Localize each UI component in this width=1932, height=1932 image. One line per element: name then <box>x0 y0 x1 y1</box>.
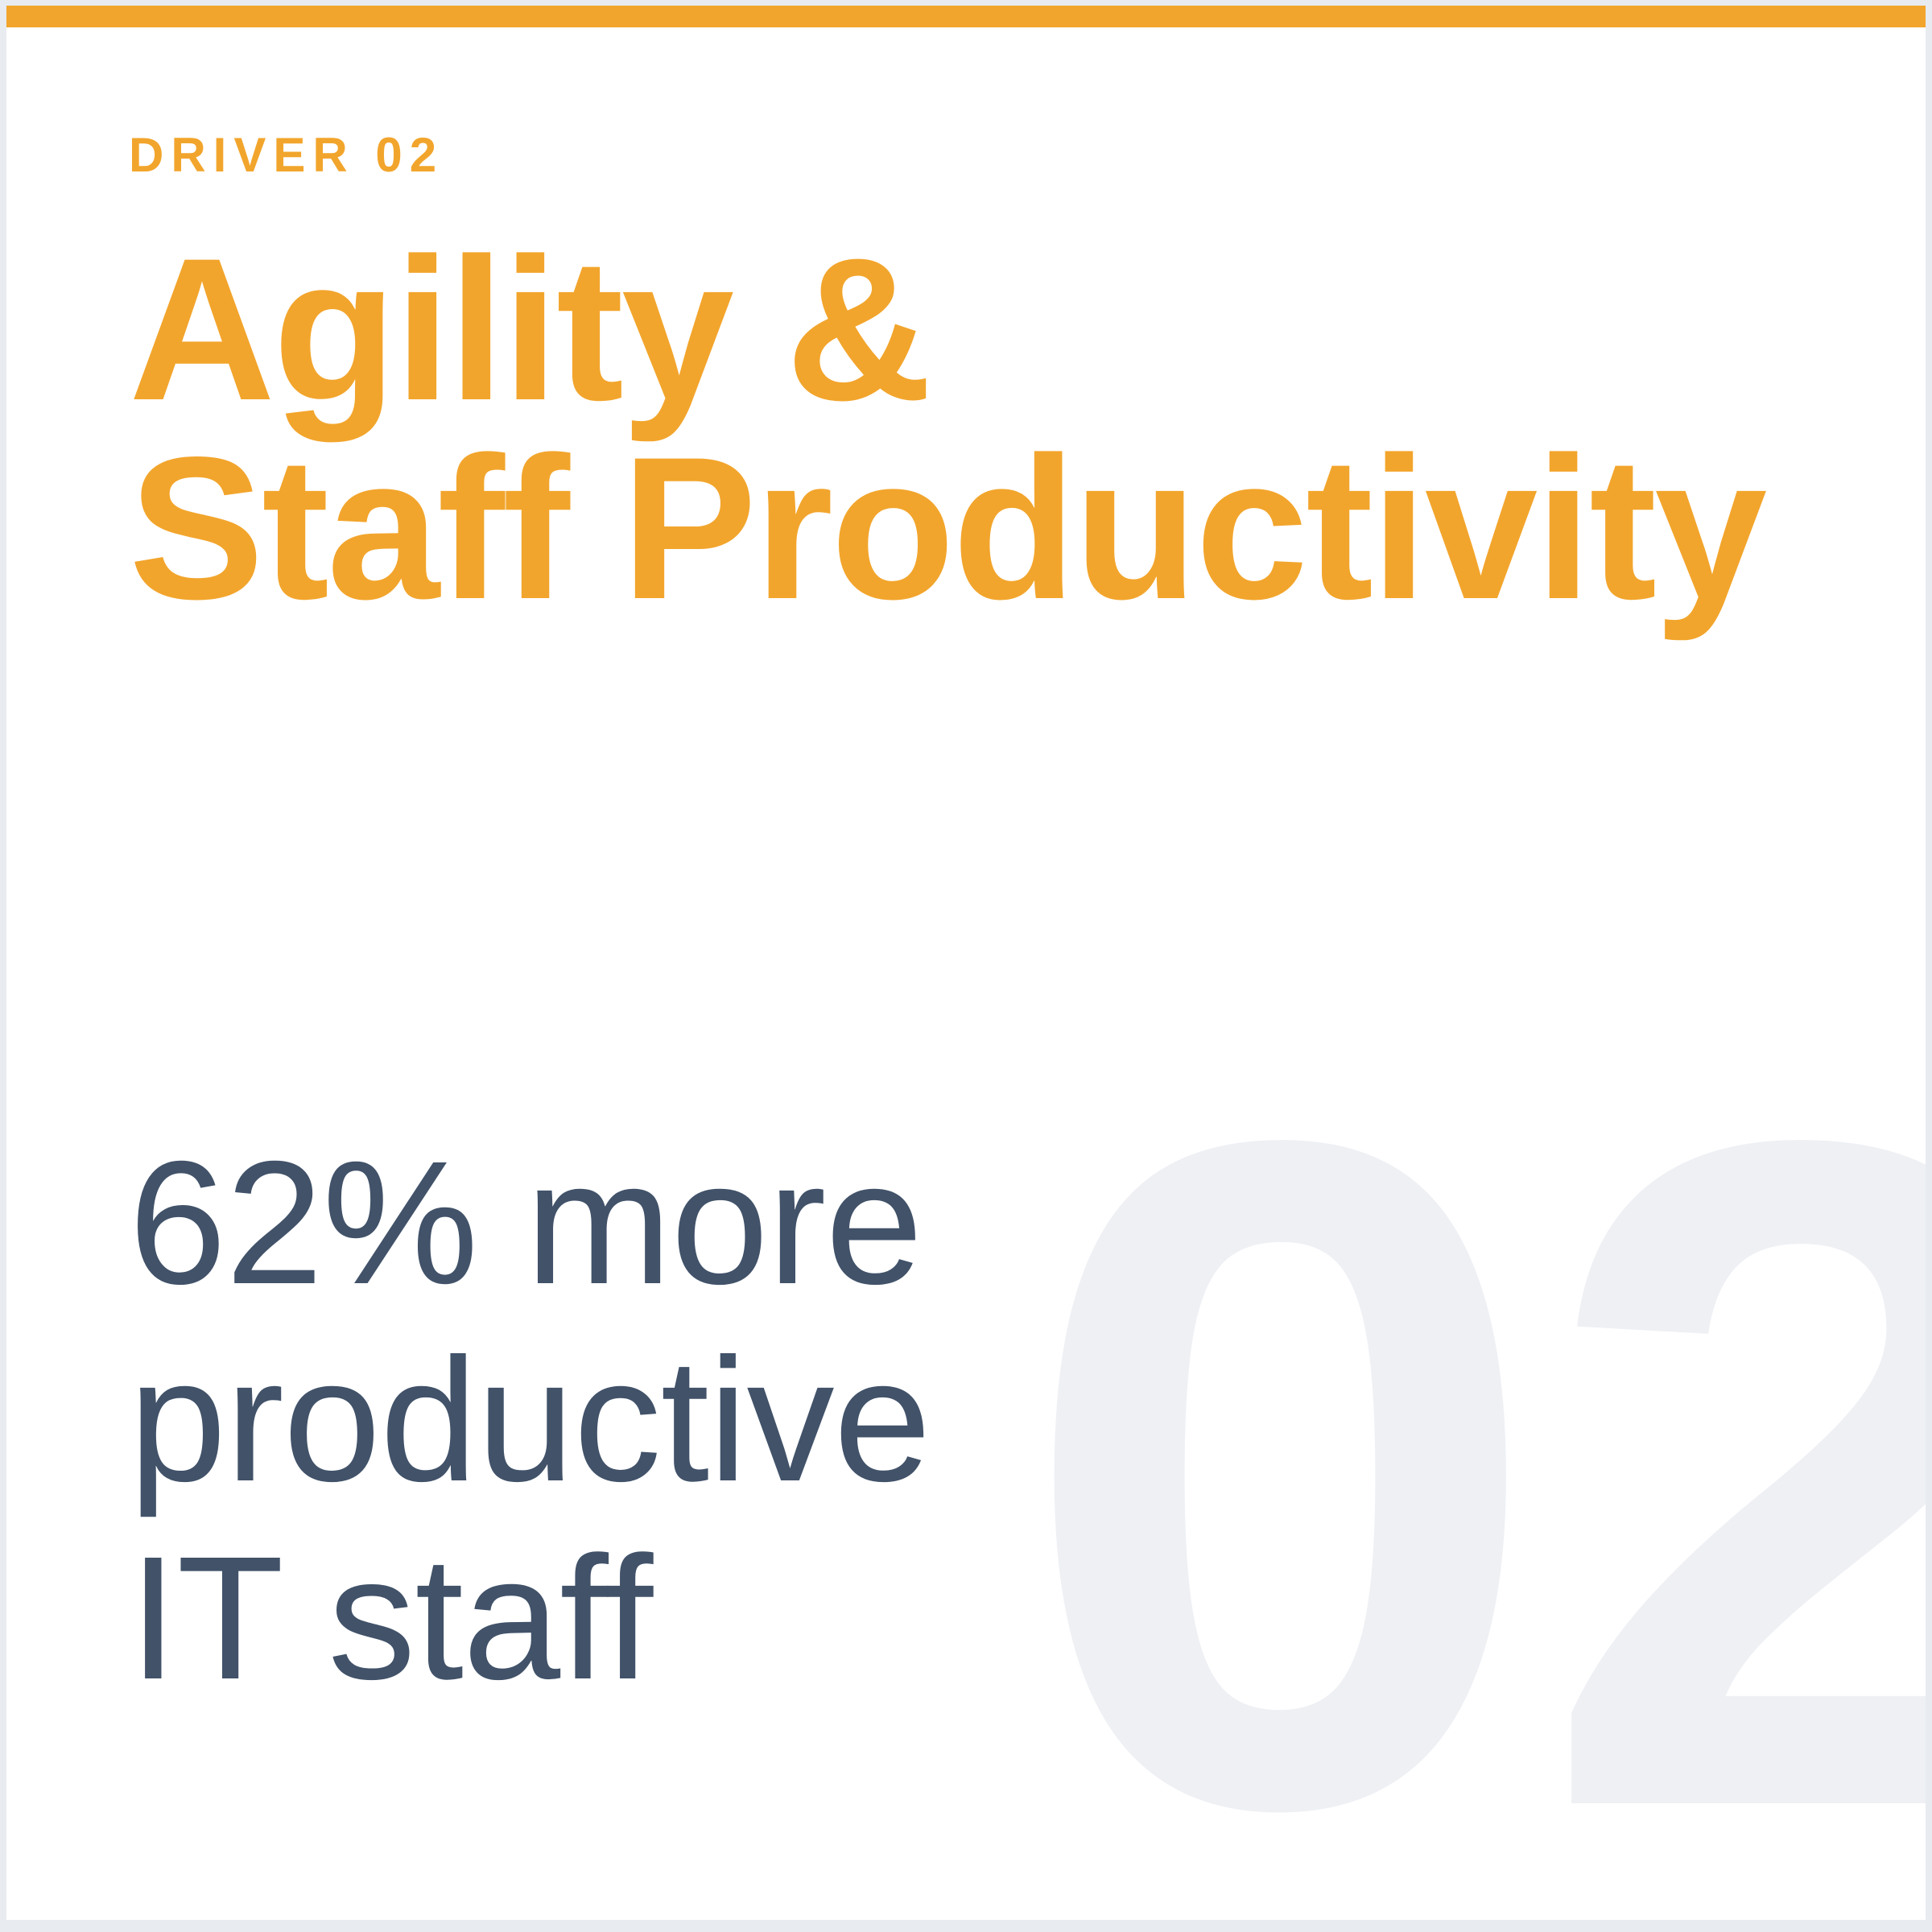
driver-stat-text: 62% more productive IT staff <box>129 1125 931 1717</box>
driver-eyebrow-label: DRIVER 02 <box>129 131 1813 180</box>
driver-card: 02 DRIVER 02 Agility & Staff Productivit… <box>6 6 1926 1920</box>
driver-headline: Agility & Staff Productivity <box>129 231 1813 629</box>
